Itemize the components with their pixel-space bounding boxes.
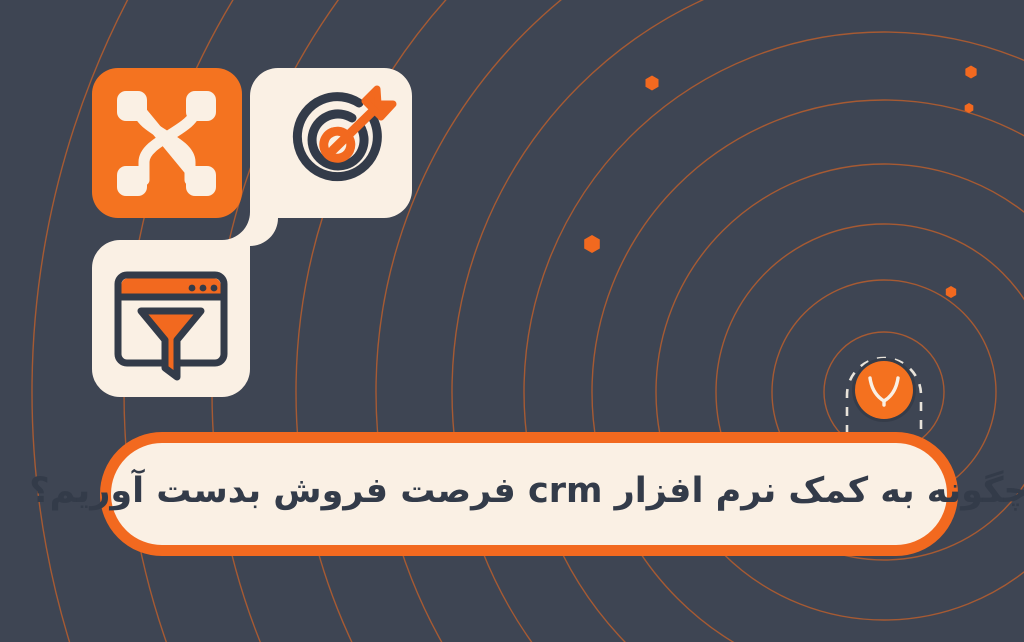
headline-banner: چگونه به کمک نرم افزار crm فرصت فروش بدس… — [100, 432, 958, 556]
headline-text: چگونه به کمک نرم افزار crm فرصت فروش بدس… — [29, 468, 1024, 519]
badge-disc[interactable] — [855, 361, 913, 419]
promo-banner-canvas: چگونه به کمک نرم افزار crm فرصت فروش بدس… — [0, 0, 1024, 642]
